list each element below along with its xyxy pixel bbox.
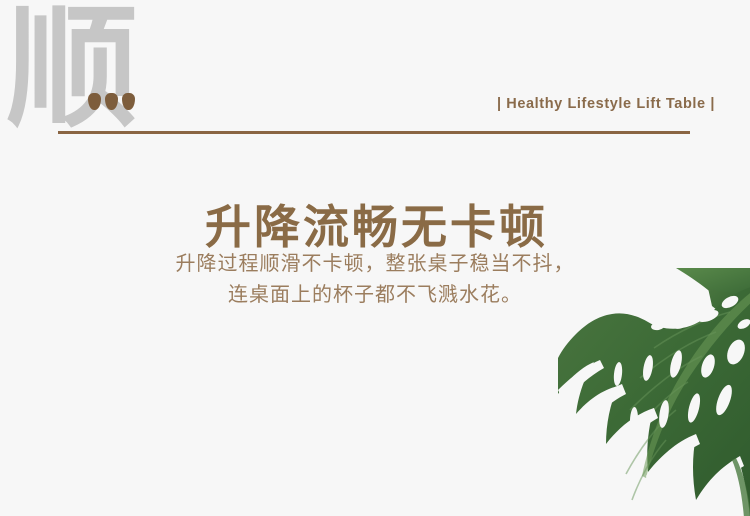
header-divider xyxy=(58,131,690,134)
droplet-icon-1 xyxy=(88,93,101,110)
page-title: 升降流畅无卡顿 xyxy=(0,199,750,255)
droplet-group-icon xyxy=(88,91,140,113)
subtitle-block: 升降过程顺滑不卡顿，整张桌子稳当不抖， 连桌面上的杯子都不飞溅水花。 xyxy=(0,248,750,310)
droplet-icon-3 xyxy=(122,93,135,110)
watermark-character: 顺 xyxy=(6,0,138,144)
droplet-icon-2 xyxy=(105,93,118,110)
english-tagline: | Healthy Lifestyle Lift Table | xyxy=(455,96,715,112)
subtitle-line-2: 连桌面上的杯子都不飞溅水花。 xyxy=(0,279,750,310)
subtitle-line-1: 升降过程顺滑不卡顿，整张桌子稳当不抖， xyxy=(0,248,750,279)
promo-banner: 顺 | Healthy Lifestyle Lift Table | 升降流畅无… xyxy=(0,0,750,516)
brand-watermark-logo: 顺 xyxy=(6,0,166,144)
